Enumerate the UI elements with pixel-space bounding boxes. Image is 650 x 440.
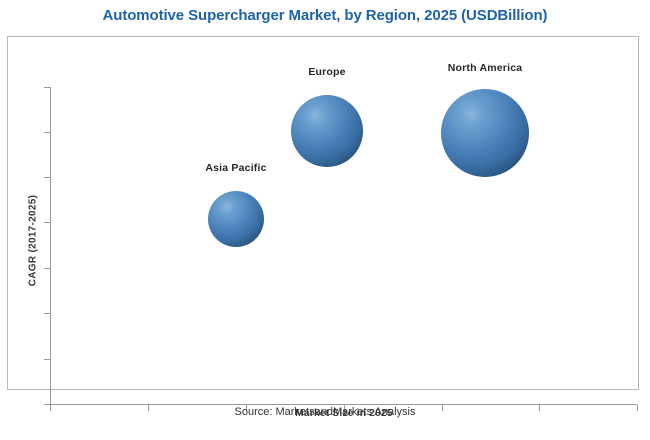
y-axis-tick [44, 359, 50, 360]
y-axis-line [50, 87, 51, 405]
y-axis-tick [44, 132, 50, 133]
y-axis-tick [44, 268, 50, 269]
chart-title: Automotive Supercharger Market, by Regio… [0, 7, 650, 24]
y-axis-tick [44, 222, 50, 223]
bubble-label-europe: Europe [257, 66, 397, 78]
bubble-label-asia-pacific: Asia Pacific [166, 162, 306, 174]
plot-frame: CAGR (2017-2025) Market Size in 2025 Asi… [7, 36, 639, 390]
bubble-north-america[interactable] [441, 89, 529, 177]
bubble-chart: Automotive Supercharger Market, by Regio… [0, 0, 650, 440]
y-axis-tick [44, 313, 50, 314]
bubble-asia-pacific[interactable] [208, 191, 264, 247]
y-axis-tick [44, 177, 50, 178]
bubble-label-north-america: North America [415, 62, 555, 74]
y-axis-tick [44, 87, 50, 88]
y-axis-title: CAGR (2017-2025) [28, 161, 39, 321]
source-note: Source: MarketsandMarkets Analysis [0, 406, 650, 418]
bubble-europe[interactable] [291, 95, 363, 167]
